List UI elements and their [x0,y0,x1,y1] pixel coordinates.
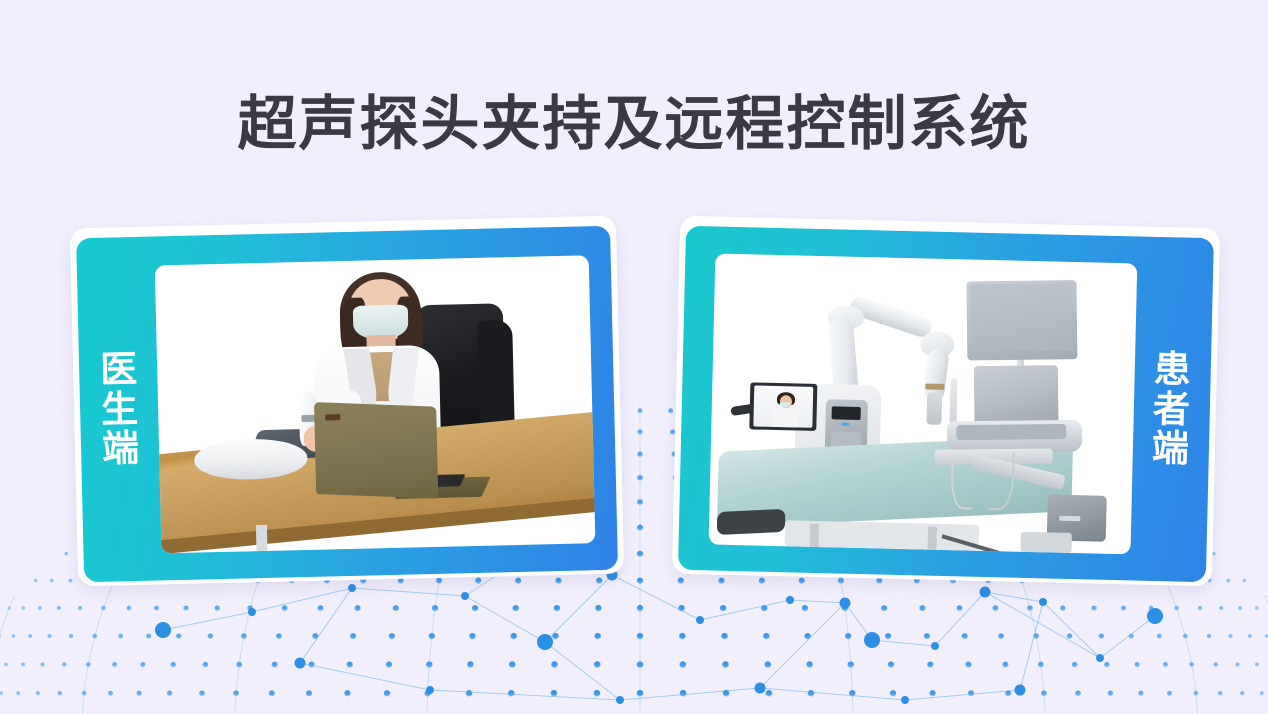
robot-arm-probe-holder [927,392,942,424]
exam-bed-headrest [717,509,785,535]
panel-doctor-side[interactable]: 医 生 端 [70,216,624,587]
scene-doctor [155,255,596,553]
label-char: 者 [1144,389,1199,430]
video-doctor-coat [772,408,799,428]
ultrasound-console-keys [956,424,1066,440]
exam-bed-leg [810,524,819,547]
label-char: 医 [92,349,147,390]
panel-gradient-frame: 医 生 端 [76,226,618,582]
desk-leg [256,525,267,551]
exam-bed-leg [928,526,937,549]
slide-canvas: 超声探头夹持及远程控制系统 医 生 端 [0,0,1268,714]
robot-arm-collar [925,384,944,390]
page-title: 超声探头夹持及远程控制系统 [0,76,1268,161]
panel-patient-side[interactable]: 患 者 端 [672,216,1220,587]
label-char: 患 [1145,349,1200,390]
base-unit-label [1059,516,1080,521]
laptop-logo [325,414,340,421]
label-char: 端 [94,428,149,469]
office-chair-side [477,320,514,436]
ultrasound-touch-monitor [973,365,1058,424]
label-char: 生 [93,389,148,430]
ultrasound-main-monitor-screen [971,283,1073,351]
panel-label-patient: 患 者 端 [1143,349,1200,469]
label-char: 端 [1143,428,1198,469]
photo-doctor-workstation [155,255,596,553]
panel-label-doctor: 医 生 端 [92,349,149,469]
scene-patient [709,254,1138,555]
cart-display [831,406,861,420]
panel-gradient-frame: 患 者 端 [678,226,1214,582]
photo-patient-room [709,254,1138,555]
cart-status-light [841,422,850,425]
ultrasound-probe-holder [950,378,958,425]
ultrasound-cart-foot [1021,531,1072,553]
